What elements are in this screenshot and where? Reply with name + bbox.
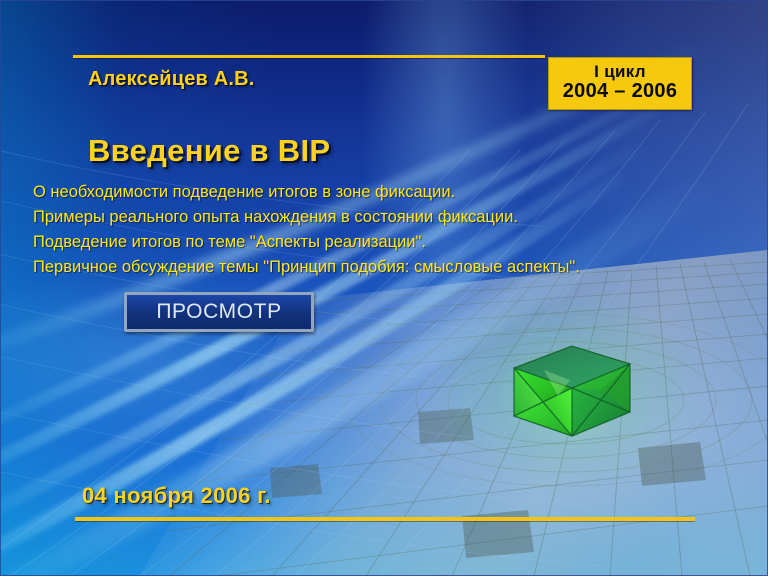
bullet-list: О необходимости подведение итогов в зоне… <box>33 180 743 280</box>
author-name: Алексейцев А.В. <box>88 68 255 91</box>
cycle-badge-line1: I цикл <box>549 63 691 80</box>
cycle-badge: I цикл 2004 – 2006 <box>548 57 692 110</box>
top-gold-rule <box>73 55 545 58</box>
presentation-slide: Алексейцев А.В. I цикл 2004 – 2006 Введе… <box>0 0 768 576</box>
preview-button[interactable]: ПРОСМОТР <box>124 292 314 332</box>
bottom-gold-rule <box>75 517 695 521</box>
list-item: О необходимости подведение итогов в зоне… <box>33 180 743 205</box>
list-item: Примеры реального опыта нахождения в сос… <box>33 205 743 230</box>
list-item: Подведение итогов по теме "Аспекты реали… <box>33 230 743 255</box>
page-title: Введение в BIP <box>88 133 330 169</box>
list-item: Первичное обсуждение темы "Принцип подоб… <box>33 255 743 280</box>
green-cube-graphic <box>498 330 638 450</box>
presentation-date: 04 ноября 2006 г. <box>82 483 271 509</box>
cycle-badge-line2: 2004 – 2006 <box>549 81 691 101</box>
